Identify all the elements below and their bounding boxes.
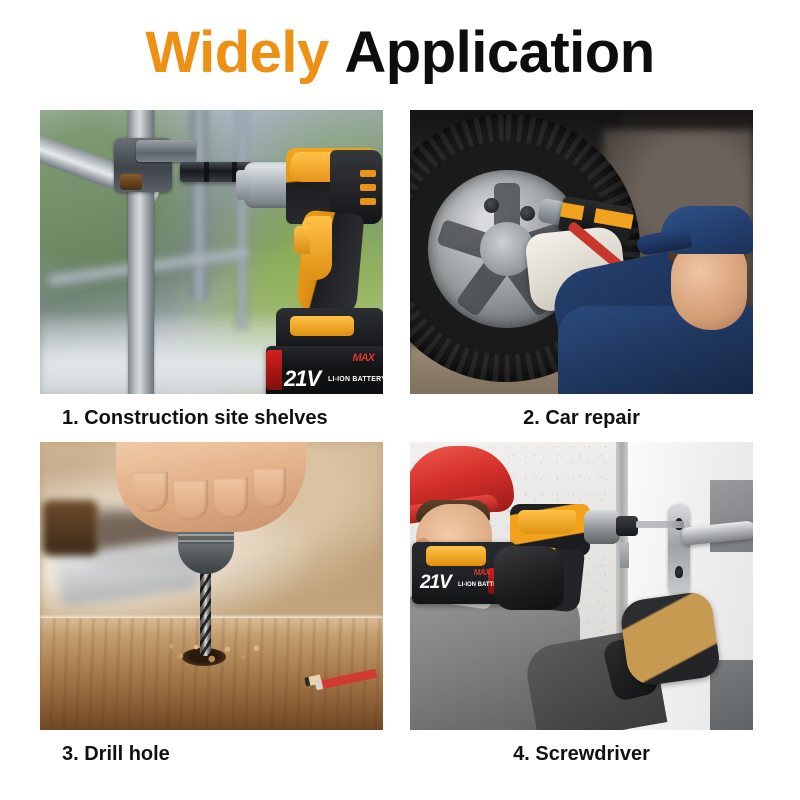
tool-chuck — [616, 516, 638, 536]
keyhole-lower — [675, 566, 683, 578]
photo-screwdriver: MAX 21V LI-ION BATTERY — [410, 442, 753, 730]
page-title: Widely Application — [0, 18, 800, 88]
impact-wrench-tool: MAX 21V LI-ION BATTERY — [244, 140, 383, 390]
tool-vent-3 — [360, 198, 376, 205]
title-plain-word: Application — [344, 20, 654, 85]
photo-construction-site-shelves: MAX 21V LI-ION BATTERY — [40, 110, 383, 394]
photo-drill-hole — [40, 442, 383, 730]
wood-shavings — [158, 638, 270, 668]
work-glove-black — [494, 546, 564, 610]
tool-trigger — [294, 226, 310, 254]
tool-vent-2 — [360, 184, 376, 191]
caption-2: 2. Car repair — [410, 394, 753, 442]
tool-vent-1 — [360, 170, 376, 177]
application-grid: MAX 21V LI-ION BATTERY 1. Construction s… — [40, 110, 753, 778]
scaffold-clamp-plate — [136, 140, 196, 162]
caption-3: 3. Drill hole — [40, 730, 383, 778]
battery-voltage-label: 21V — [284, 366, 320, 392]
door-panel-lower — [710, 660, 753, 730]
application-cell-3: 3. Drill hole — [40, 442, 383, 778]
work-glove-tan — [618, 590, 721, 688]
caption-4: 4. Screwdriver — [410, 730, 753, 778]
battery-collar-yellow — [426, 546, 486, 566]
widely-application-infographic: Widely Application — [0, 0, 800, 800]
background-sleeve-cuff — [42, 500, 98, 556]
wood-grain — [40, 618, 383, 730]
tool-collar — [584, 510, 620, 544]
tool-head-yellow-shell — [518, 510, 576, 534]
screwdriver-bit — [636, 521, 684, 528]
battery-type-label: LI-ION BATTERY — [328, 376, 383, 383]
battery-voltage-label: 21V — [420, 572, 451, 594]
application-cell-1: MAX 21V LI-ION BATTERY 1. Construction s… — [40, 110, 383, 442]
application-cell-4: MAX 21V LI-ION BATTERY 4. Screwdriver — [410, 442, 753, 778]
drill-bit-flute — [200, 570, 211, 656]
battery-brand-mark: MAX — [474, 568, 490, 577]
title-highlight-word: Widely — [145, 20, 328, 85]
battery-collar-yellow — [290, 316, 354, 336]
background-pole-1 — [190, 110, 208, 300]
battery-red-stripe — [266, 350, 282, 390]
battery-pack: MAX 21V LI-ION BATTERY — [266, 346, 383, 394]
application-cell-2: 2. Car repair — [410, 110, 753, 442]
caption-1: 1. Construction site shelves — [40, 394, 383, 442]
photo-car-repair — [410, 110, 753, 394]
battery-brand-mark: MAX — [353, 352, 374, 364]
